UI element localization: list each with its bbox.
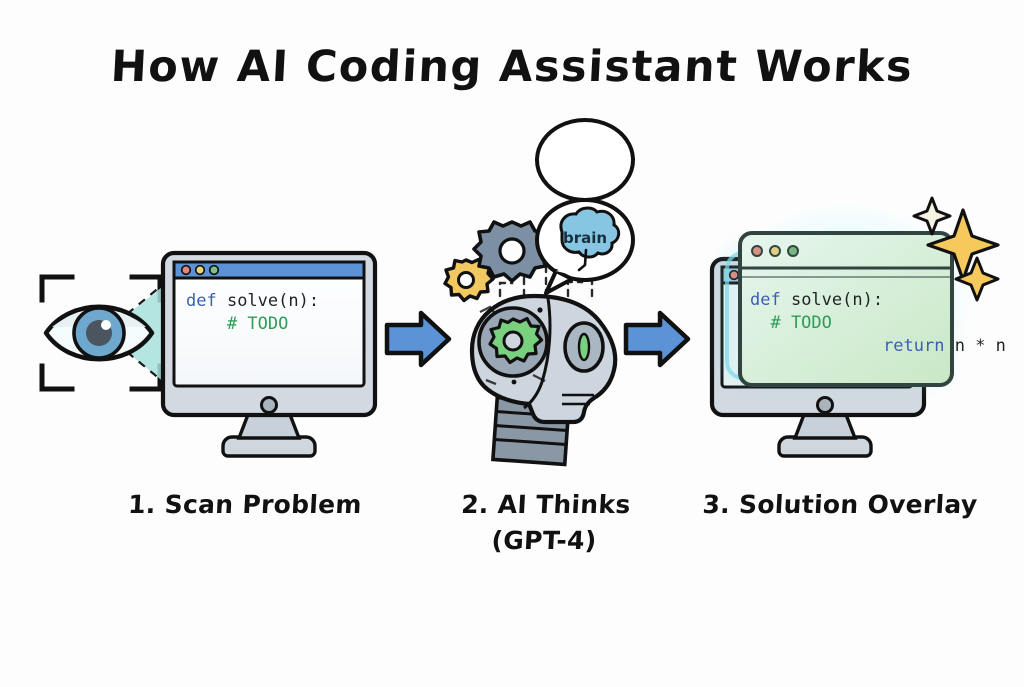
step-label-think-line1: 2. AI Thinks — [420, 487, 672, 523]
overlay-dot-red — [752, 246, 762, 256]
step-label-think: 2. AI Thinks (GPT-4) — [418, 487, 672, 558]
eye-scanner-group — [42, 272, 178, 394]
window-dot-red — [182, 266, 191, 275]
bubble-label: brain — [563, 229, 607, 247]
code-line-1: def solve(n): — [186, 291, 319, 311]
monitor-solution-group: def solve(n): # TODO return n * n — [712, 198, 1024, 456]
code-token-kw: def — [186, 291, 227, 311]
window-dot-green — [210, 266, 219, 275]
diagram-canvas: How AI Coding Assistant Works — [0, 0, 1024, 687]
window-dot-yellow — [196, 266, 205, 275]
overlay-code-line-1: def solve(n): — [750, 290, 883, 310]
robot-head-icon — [472, 296, 615, 422]
brain-speech-bubble: brain — [537, 120, 633, 293]
illustration: def solve(n): # TODO — [0, 0, 1024, 687]
robot-thinking-group: brain — [445, 120, 633, 464]
step-label-think-line2: (GPT-4) — [418, 523, 670, 559]
step-label-scan: 1. Scan Problem — [59, 487, 431, 523]
code-line-2: # TODO — [186, 314, 288, 334]
code-token-txt: solve(n): — [227, 291, 319, 311]
overlay-dot-yellow — [770, 246, 780, 256]
arrow-1-2 — [387, 313, 449, 365]
overlay-code-line-3: return n * n — [750, 336, 1024, 356]
monitor-scan: def solve(n): # TODO — [163, 253, 375, 456]
solution-overlay-window: def solve(n): # TODO return n * n — [740, 233, 1024, 385]
overlay-dot-green — [788, 246, 798, 256]
arrow-2-3 — [626, 313, 688, 365]
overlay-code-line-2: # TODO — [750, 313, 832, 333]
step-label-overlay: 3. Solution Overlay — [669, 487, 1011, 523]
